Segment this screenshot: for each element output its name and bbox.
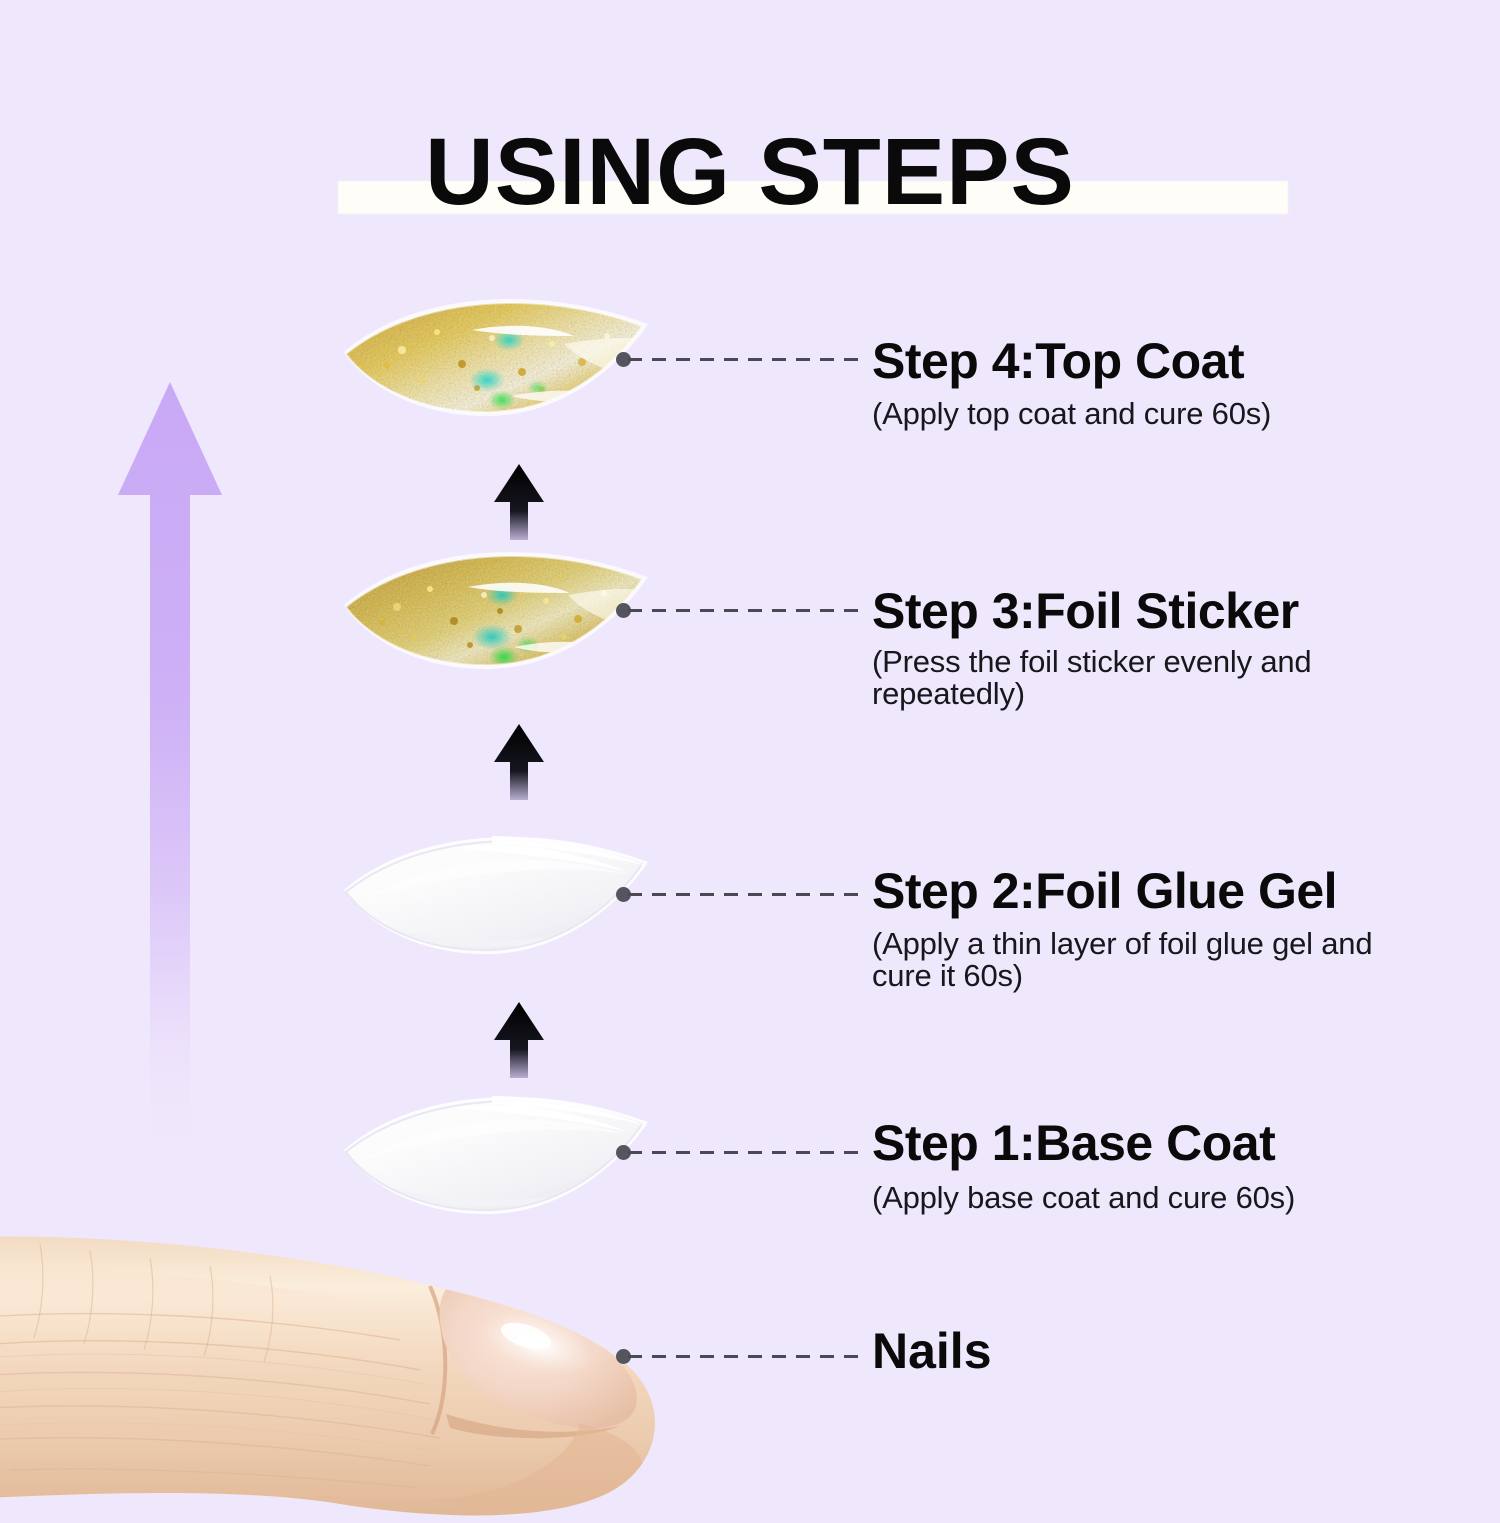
step-1-title: Step 1:Base Coat <box>872 1118 1275 1168</box>
leader-dash <box>628 1151 860 1154</box>
leader-line-nails <box>616 1344 860 1362</box>
leader-line-step-3 <box>616 598 860 616</box>
step-4-subtitle: (Apply top coat and cure 60s) <box>872 398 1432 430</box>
leader-line-step-4 <box>616 347 860 365</box>
big-up-arrow-icon <box>110 380 230 1170</box>
up-arrow-icon <box>492 462 546 540</box>
nails-label: Nails <box>872 1326 992 1376</box>
step-3-subtitle: (Press the foil sticker evenly and repea… <box>872 646 1402 710</box>
up-arrow-icon <box>492 1000 546 1078</box>
leader-line-step-2 <box>616 882 860 900</box>
step-1-subtitle: (Apply base coat and cure 60s) <box>872 1182 1432 1214</box>
leader-dash <box>628 1355 860 1358</box>
leader-line-step-1 <box>616 1140 860 1158</box>
fingertip-photo <box>0 1228 700 1518</box>
step-3-title: Step 3:Foil Sticker <box>872 586 1299 636</box>
leader-dash <box>628 358 860 361</box>
step-2-title: Step 2:Foil Glue Gel <box>872 866 1337 916</box>
leader-dash <box>628 893 860 896</box>
up-arrow-icon <box>492 722 546 800</box>
page-title: USING STEPS <box>0 125 1500 220</box>
step-2-subtitle: (Apply a thin layer of foil glue gel and… <box>872 928 1412 992</box>
step-4-title: Step 4:Top Coat <box>872 336 1244 386</box>
leader-dash <box>628 609 860 612</box>
using-steps-infographic: USING STEPS <box>0 0 1500 1500</box>
